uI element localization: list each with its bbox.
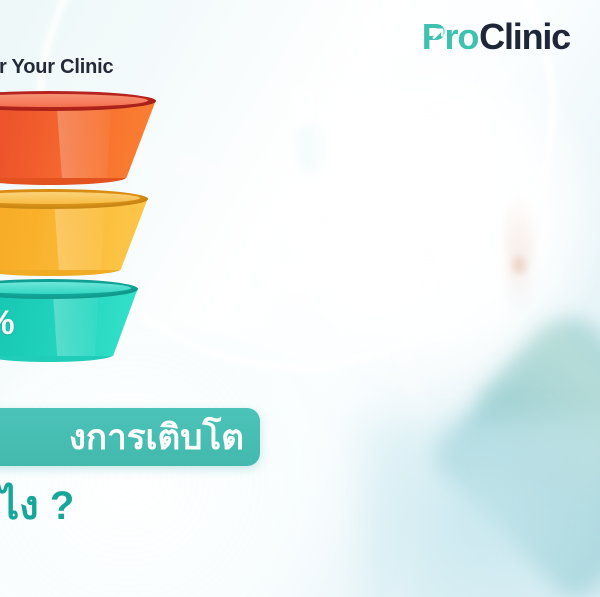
background-blur-panel [404,148,488,268]
headline-banner: งการเติบโต [0,408,260,466]
background-blur-panel [314,96,330,178]
headline-line-1: งการเติบโต [69,420,244,455]
page-title: r For Your Clinic [0,56,113,79]
growth-funnel-chart: 20 VENUE 25 G SIZE 5% ST [0,88,175,378]
proclinic-logo: Pro Clinic [422,19,570,55]
funnel-layer-booking-size: 25 G SIZE [0,198,148,270]
funnel-layer-cost: 5% ST [0,288,138,356]
logo-clinic-text: Clinic [479,19,570,55]
background-blurred-figure-head [512,256,526,274]
background-blur-panel [252,248,376,306]
headline-line-2: ได้ยังไง ? [0,482,74,530]
funnel-layer-gloss [56,100,111,178]
arrow-up-right-icon [431,26,446,41]
promo-banner-canvas: r For Your Clinic Pro Clinic 20 VENUE [0,0,600,597]
funnel-layer-revenue: 20 VENUE [0,100,156,178]
background-corner-wash [360,417,600,597]
background-blurred-figure [506,192,532,312]
